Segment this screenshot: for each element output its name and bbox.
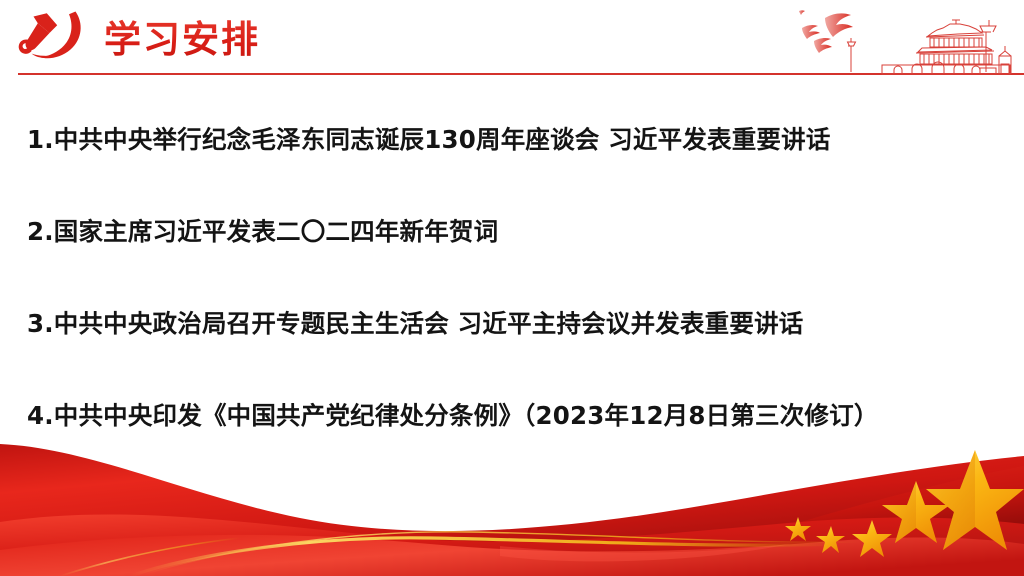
hammer-and-sickle-icon — [13, 7, 93, 69]
page-title: 学习安排 — [104, 14, 260, 66]
slide-header: 学习安排 — [0, 0, 1024, 90]
list-item: 2.国家主席习近平发表二〇二四年新年贺词 — [27, 210, 997, 254]
list-item: 3.中共中央政治局召开专题民主生活会 习近平主持会议并发表重要讲话 — [27, 302, 997, 346]
red-silk-ribbon-decoration — [0, 426, 1024, 576]
study-schedule-list: 1.中共中央举行纪念毛泽东同志诞辰130周年座谈会 习近平发表重要讲话 2.国家… — [27, 118, 997, 438]
slide-canvas: 学习安排 — [0, 0, 1024, 576]
list-item: 1.中共中央举行纪念毛泽东同志诞辰130周年座谈会 习近平发表重要讲话 — [27, 118, 997, 162]
tiananmen-gate-with-doves-icon — [770, 0, 1024, 76]
